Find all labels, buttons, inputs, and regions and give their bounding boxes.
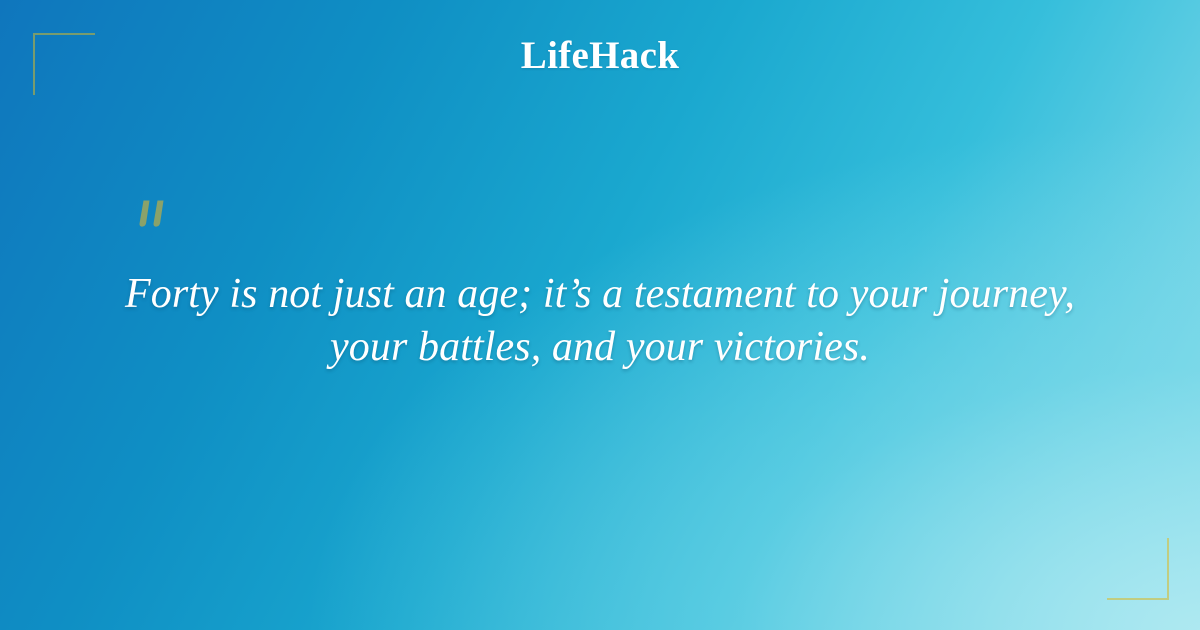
brand-logo-text: LifeHack [521, 36, 679, 77]
quote-line-2: your battles, and your victories. [100, 321, 1100, 374]
quote-card: LifeHack Forty is not just an age; it’s … [0, 0, 1200, 630]
quote-text: Forty is not just an age; it’s a testame… [100, 268, 1100, 375]
quotation-mark-icon [133, 196, 179, 242]
brand-header: LifeHack [0, 36, 1200, 77]
corner-bracket-icon-bottom-right [1107, 538, 1169, 600]
quote-line-1: Forty is not just an age; it’s a testame… [125, 271, 1075, 317]
